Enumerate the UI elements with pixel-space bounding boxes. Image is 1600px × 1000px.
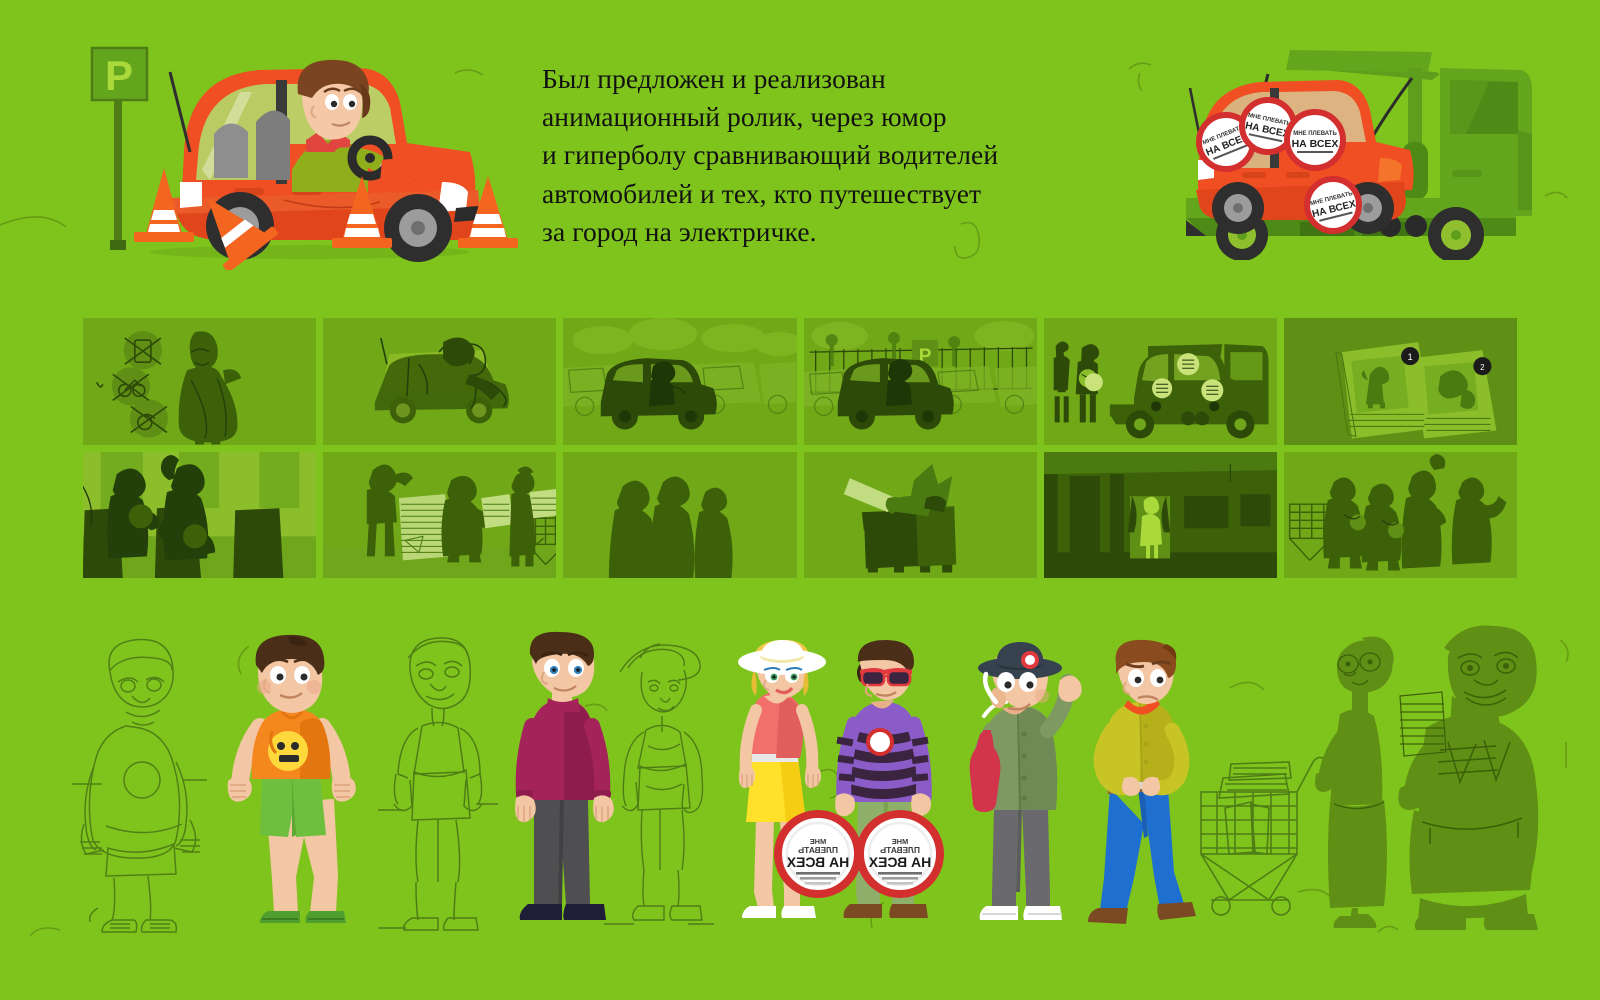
hero-line: анимационный ролик, через юмор [542,98,1142,136]
character-man-magenta-turtleneck [500,632,615,932]
character-sketch-chubby-man [72,630,207,930]
storyboard-frame-12[interactable] [1284,452,1517,579]
character-man-striped-with-signs: МНЕ ПЛЕВАТЬ НА ВСЕХ МНЕ ПЛЕВАТЬ [818,638,946,930]
svg-text:P: P [105,52,133,99]
storyboard-frame-2[interactable] [323,318,556,445]
storyboard-frame-9[interactable] [563,452,796,579]
sticker-na-vseh-4: МНЕ ПЛЕВАТЬ НА ВСЕХ [1307,179,1359,231]
storyboard-frame-4[interactable]: P [804,318,1037,445]
storyboard-frame-5[interactable] [1044,318,1277,445]
parking-sign-icon: P [92,48,147,250]
slide-root: P [0,0,1600,1000]
illustration-tow-truck: МНЕ ПЛЕВАТЬ НА ВСЕХ МНЕ ПЛЕВАТЬ НА ВСЕХ … [1150,30,1570,260]
character-man-yellow-shirt-jeans [1080,638,1198,932]
svg-text:НА ВСЕХ: НА ВСЕХ [1292,138,1339,150]
hero-line: Был предложен и реализован [542,60,1142,98]
character-man-in-hat-with-bottle [950,638,1080,930]
storyboard-frame-6[interactable]: 1 2 [1284,318,1517,445]
sign-mne-plevat-1: МНЕ ПЛЕВАТЬ НА ВСЕХ [778,814,858,894]
character-sketch-tall-man [378,632,498,932]
storyboard-frame-3[interactable] [563,318,796,445]
storyboard-frame-7[interactable] [83,452,316,579]
svg-text:2: 2 [1480,363,1485,372]
sign-mne-plevat-2: МНЕ ПЛЕВАТЬ НА ВСЕХ [860,814,940,894]
hero-paragraph: Был предложен и реализован анимационный … [542,60,1142,251]
character-sketch-woman-in-hat [604,638,714,928]
storyboard-frame-8[interactable] [323,452,556,579]
character-boy-orange-tshirt [222,635,357,930]
svg-text:МНЕ ПЛЕВАТЬ: МНЕ ПЛЕВАТЬ [1293,131,1337,137]
storyboard-frame-11[interactable] [1044,452,1277,579]
character-lineup: МНЕ ПЛЕВАТЬ НА ВСЕХ МНЕ ПЛЕВАТЬ [0,600,1600,940]
hero-line: за город на электричке. [542,213,1142,251]
character-sketch-fat-man-papers [1400,622,1560,932]
storyboard-grid: P [83,318,1517,578]
hero-line: и гиперболу сравнивающий водителей [542,136,1142,174]
svg-text:НА ВСЕХ: НА ВСЕХ [786,854,849,870]
storyboard-frame-10[interactable] [804,452,1037,579]
hero-line: автомобилей и тех, кто путешествует [542,175,1142,213]
illustration-driver-in-car: P [70,40,530,270]
svg-text:НА ВСЕХ: НА ВСЕХ [868,854,931,870]
character-sketch-woman-with-cart [1300,632,1410,932]
hat-icon [978,642,1062,679]
sticker-na-vseh-3: МНЕ ПЛЕВАТЬ НА ВСЕХ [1287,112,1343,168]
svg-text:1: 1 [1407,352,1412,362]
storyboard-frame-1[interactable] [83,318,316,445]
